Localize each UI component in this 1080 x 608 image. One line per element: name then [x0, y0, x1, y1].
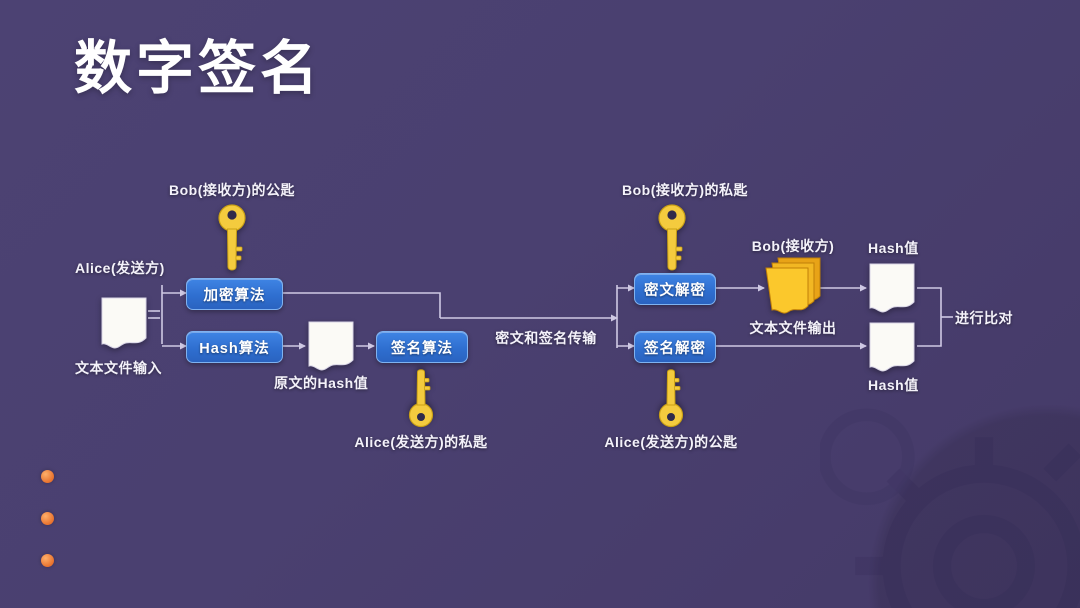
step-encrypt-algorithm-label: 加密算法	[204, 284, 266, 305]
input-document-icon	[100, 296, 148, 350]
key-icon	[218, 203, 246, 275]
step-signature-algorithm-label: 签名算法	[391, 337, 453, 358]
hash-document-label: 原文的Hash值	[274, 373, 368, 393]
hash-document-bottom-icon	[868, 321, 916, 373]
key-icon	[657, 366, 685, 428]
step-hash-algorithm-label: Hash算法	[199, 337, 269, 358]
hash-document-top-icon	[868, 262, 916, 314]
signature-flowchart: Alice(发送方) 文本文件输入 Bob(接收方)的公匙 加密算法 Hash算…	[0, 0, 1080, 608]
alice-private-key-label: Alice(发送方)的私匙	[354, 432, 487, 452]
input-document-label: 文本文件输入	[75, 358, 162, 378]
receiver-party-label: Bob(接收方)	[752, 236, 835, 256]
connector-wires	[0, 0, 1080, 608]
key-icon	[658, 203, 686, 275]
sender-party-label: Alice(发送方)	[75, 258, 165, 278]
step-decrypt-signature-label: 签名解密	[644, 337, 706, 358]
slide-canvas: 数字签名	[0, 0, 1080, 608]
step-decrypt-signature[interactable]: 签名解密	[634, 331, 716, 363]
output-document-label: 文本文件输出	[750, 318, 837, 338]
document-stack-icon	[764, 256, 822, 318]
key-icon	[407, 366, 435, 428]
transmission-label: 密文和签名传输	[495, 328, 597, 348]
hash-bottom-label: Hash值	[868, 375, 919, 395]
bob-private-key-label: Bob(接收方)的私匙	[622, 180, 748, 200]
step-signature-algorithm[interactable]: 签名算法	[376, 331, 468, 363]
compare-label: 进行比对	[955, 308, 1013, 328]
hash-document-icon	[307, 320, 355, 372]
step-decrypt-cipher-label: 密文解密	[644, 279, 706, 300]
step-decrypt-cipher[interactable]: 密文解密	[634, 273, 716, 305]
step-encrypt-algorithm[interactable]: 加密算法	[186, 278, 283, 310]
alice-public-key-label: Alice(发送方)的公匙	[604, 432, 737, 452]
bob-public-key-label: Bob(接收方)的公匙	[169, 180, 295, 200]
hash-top-label: Hash值	[868, 238, 919, 258]
step-hash-algorithm[interactable]: Hash算法	[186, 331, 283, 363]
